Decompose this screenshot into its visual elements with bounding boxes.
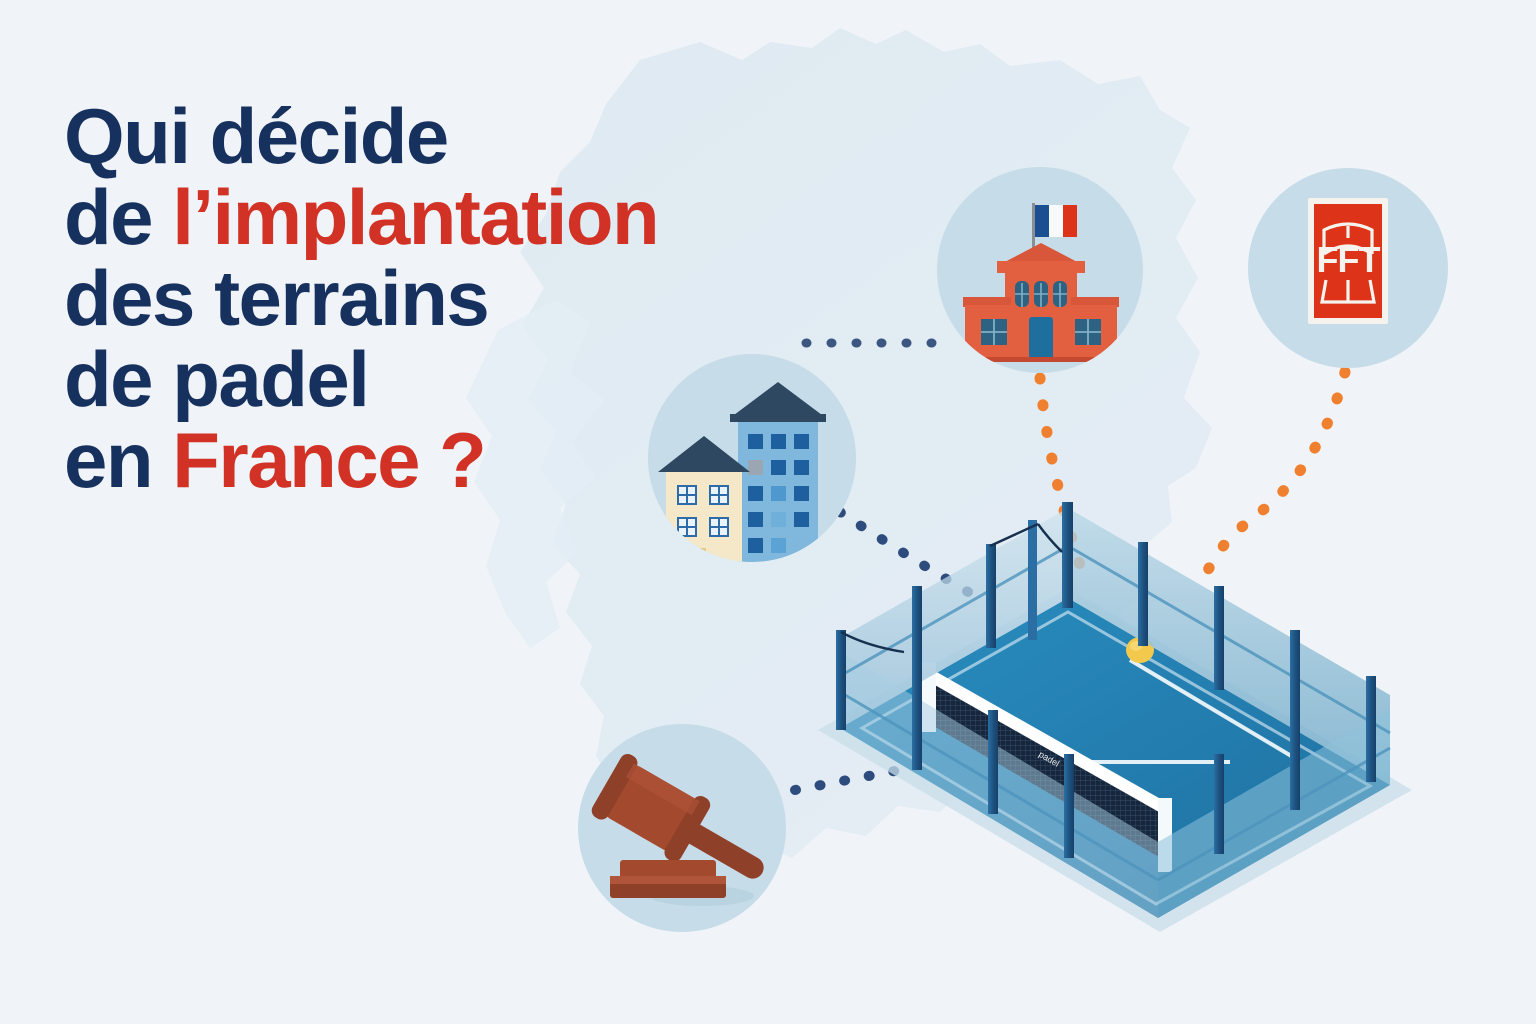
fft-logo-text: FFT xyxy=(1317,239,1381,280)
gavel-icon xyxy=(578,724,786,932)
mairie-icon xyxy=(937,167,1143,373)
gavel-sound-block xyxy=(610,860,726,898)
building-tall-roof xyxy=(730,382,826,418)
title-segment: Qui décide xyxy=(64,92,448,180)
french-flag-icon xyxy=(1035,205,1077,237)
title-segment: de xyxy=(64,173,172,261)
title-line-3: des terrains xyxy=(64,258,864,339)
title-line-1: Qui décide xyxy=(64,96,864,177)
title-segment: de padel xyxy=(64,335,368,423)
residential-buildings-icon xyxy=(648,354,856,562)
building-short-roof xyxy=(658,436,750,472)
title-segment: en xyxy=(64,416,172,504)
infographic-canvas: Qui décide de l’implantation des terrain… xyxy=(0,0,1536,1024)
gavel-head xyxy=(589,751,713,864)
mairie-door xyxy=(1029,317,1053,361)
fft-logo-icon: FFT xyxy=(1248,168,1448,368)
title-segment: des terrains xyxy=(64,254,488,342)
title-line-2: de l’implantation xyxy=(64,177,864,258)
flagpole xyxy=(1032,203,1035,249)
title-segment-accent: l’implantation xyxy=(172,173,658,261)
padel-court-illustration: padel xyxy=(800,480,1440,950)
title-segment-accent: France ? xyxy=(172,416,485,504)
